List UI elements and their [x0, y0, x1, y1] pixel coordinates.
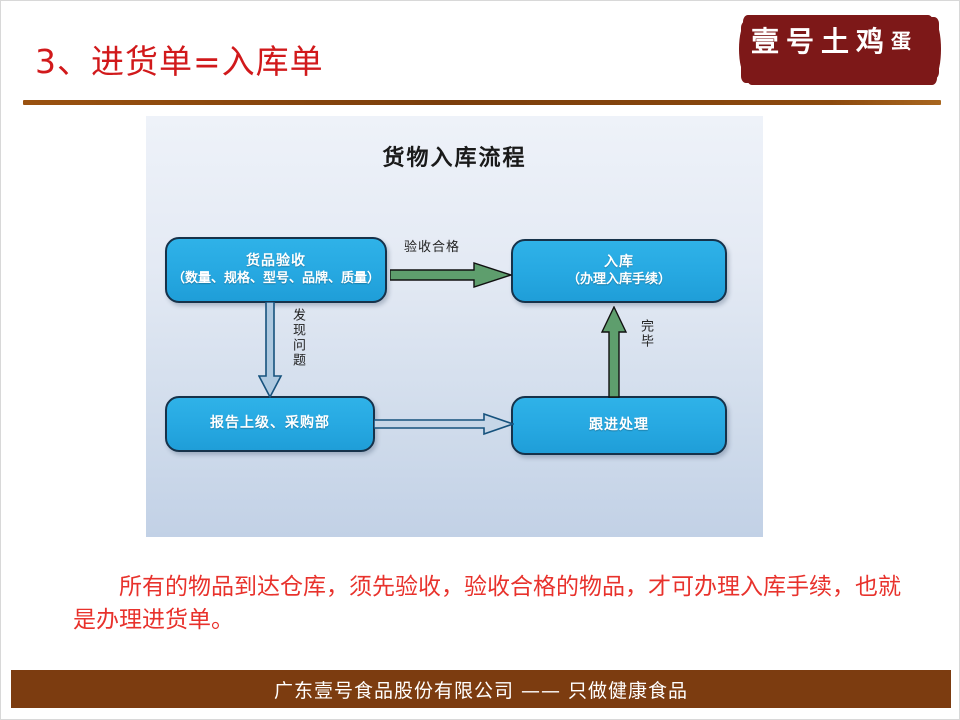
flow-diagram-panel: 货物入库流程 货品验收 （数量、规格、型号、品牌、质量） 入库 （办理入库手续）… — [146, 116, 763, 537]
flow-node-report-line1: 报告上级、采购部 — [210, 415, 330, 433]
footer-bar: 广东壹号食品股份有限公司 —— 只做健康食品 — [11, 670, 951, 708]
diagram-title: 货物入库流程 — [146, 140, 763, 172]
flow-node-inspect: 货品验收 （数量、规格、型号、品牌、质量） — [165, 237, 387, 303]
brand-logo: 壹 号 土 鸡 蛋 — [736, 9, 944, 91]
flow-node-follow-line1: 跟进处理 — [589, 417, 649, 435]
logo-char-2: 号 — [786, 20, 814, 60]
flow-node-report: 报告上级、采购部 — [165, 396, 375, 452]
logo-char-4: 鸡 — [856, 20, 884, 60]
title-divider — [23, 100, 941, 105]
logo-char-1: 壹 — [751, 20, 779, 60]
logo-text: 壹 号 土 鸡 蛋 — [736, 9, 926, 71]
flow-node-inspect-line2: （数量、规格、型号、品牌、质量） — [172, 271, 380, 288]
flow-node-follow: 跟进处理 — [511, 396, 727, 455]
edge-label-issue: 发现问题 — [288, 308, 307, 388]
body-paragraph: 所有的物品到达仓库，须先验收，验收合格的物品，才可办理入库手续，也就是办理进货单… — [73, 571, 903, 638]
logo-char-3: 土 — [821, 20, 849, 60]
arrow-done-icon — [601, 306, 629, 398]
arrow-pass-icon — [390, 262, 512, 288]
arrow-report-icon — [374, 412, 514, 436]
edge-label-pass: 验收合格 — [404, 236, 460, 255]
page-title: 3、进货单=入库单 — [35, 35, 324, 83]
footer-text: 广东壹号食品股份有限公司 —— 只做健康食品 — [274, 676, 688, 703]
edge-label-done: 完毕 — [636, 319, 655, 377]
flow-node-instock: 入库 （办理入库手续） — [511, 239, 727, 303]
flow-node-instock-line2: （办理入库手续） — [567, 272, 671, 289]
logo-char-5: 蛋 — [891, 25, 911, 54]
slide: 3、进货单=入库单 壹 号 土 鸡 蛋 货物入库流程 货品验收 （数量、规格、型… — [0, 0, 960, 720]
flow-node-instock-line1: 入库 — [604, 254, 634, 272]
flow-node-inspect-line1: 货品验收 — [246, 253, 306, 271]
arrow-issue-icon — [258, 302, 284, 398]
